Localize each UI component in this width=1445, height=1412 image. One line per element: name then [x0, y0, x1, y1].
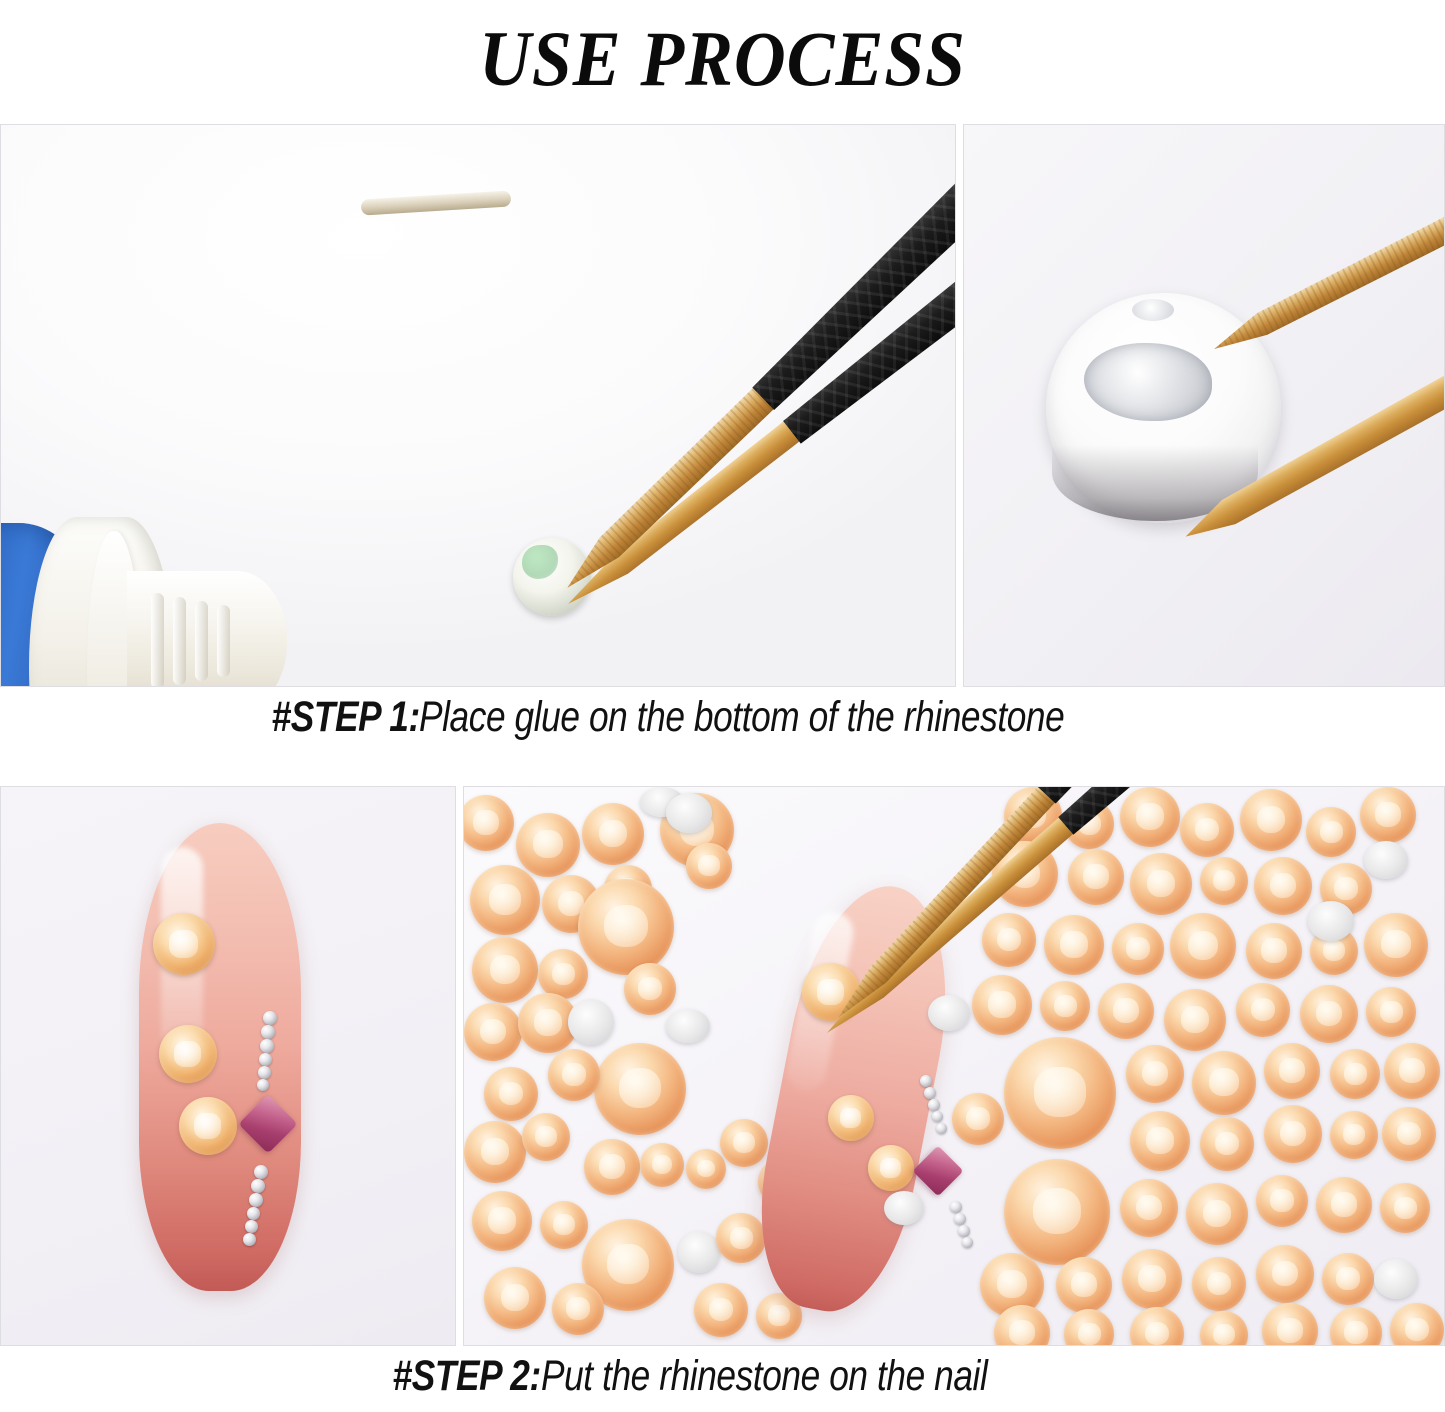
- scattered-rhinestone: [686, 1149, 726, 1189]
- scattered-rhinestone: [1236, 983, 1290, 1037]
- scattered-rhinestone: [1112, 923, 1164, 975]
- bead: [260, 1039, 274, 1053]
- rhinestone-flat-back: [666, 1009, 710, 1043]
- title-bar: USE PROCESS: [0, 0, 1445, 118]
- scattered-rhinestone: [1254, 857, 1312, 915]
- bead: [950, 1201, 962, 1213]
- scattered-rhinestone: [484, 1267, 546, 1329]
- scattered-rhinestone: [1120, 787, 1180, 847]
- scattered-rhinestone: [1300, 985, 1358, 1043]
- step1-photo-glue-on-stone-back: [963, 124, 1445, 687]
- bead: [259, 1053, 272, 1066]
- scattered-rhinestone: [1120, 1179, 1178, 1237]
- scattered-rhinestone: [1040, 981, 1090, 1031]
- round-gem: [179, 1097, 237, 1155]
- step1-photo-glue-application: [0, 124, 956, 687]
- scattered-rhinestone: [640, 1143, 684, 1187]
- scattered-rhinestone: [522, 1113, 570, 1161]
- step-1-image-row: [0, 124, 1445, 687]
- step-2-image-row: [0, 786, 1445, 1346]
- scattered-rhinestone: [1382, 1107, 1436, 1161]
- scattered-rhinestone: [1056, 1257, 1112, 1313]
- scattered-rhinestone: [464, 1121, 526, 1183]
- nozzle-ridge: [195, 601, 208, 681]
- scattered-rhinestone: [1264, 1043, 1320, 1099]
- scattered-rhinestone: [720, 1119, 768, 1167]
- bead: [958, 1225, 970, 1237]
- scattered-rhinestone: [1246, 923, 1302, 979]
- scattered-rhinestone: [1130, 853, 1192, 915]
- rhinestone-flat-back: [928, 995, 970, 1031]
- glue-bottle-nozzle: [127, 571, 287, 687]
- bead: [247, 1207, 260, 1220]
- rhinestone-flat-back: [666, 793, 712, 833]
- bead: [954, 1213, 966, 1225]
- step-1-label: #STEP 1:: [271, 693, 419, 742]
- scattered-rhinestone: [516, 813, 580, 877]
- scattered-rhinestone: [1200, 857, 1248, 905]
- bead: [251, 1179, 265, 1193]
- scattered-rhinestone: [578, 879, 674, 975]
- glue-bottle: [0, 523, 241, 687]
- scattered-rhinestone: [1122, 1249, 1182, 1309]
- scattered-rhinestone: [552, 1283, 604, 1335]
- bead: [263, 1011, 277, 1025]
- scattered-rhinestone: [1200, 1117, 1254, 1171]
- bead: [258, 1066, 271, 1079]
- scattered-rhinestone: [1044, 915, 1104, 975]
- rhinestone-flat-back: [1364, 841, 1408, 879]
- rhinestone-flat-back: [678, 1231, 720, 1273]
- bead: [257, 1079, 269, 1091]
- scattered-rhinestone: [1170, 913, 1236, 979]
- scattered-rhinestone: [1384, 1043, 1440, 1099]
- bead: [243, 1233, 256, 1246]
- step-1-caption: #STEP 1: Place glue on the bottom of the…: [0, 693, 1445, 742]
- rhinestone-flat-back: [568, 999, 614, 1045]
- bead: [936, 1123, 947, 1134]
- scattered-rhinestone: [1126, 1045, 1184, 1103]
- scattered-rhinestone: [464, 1003, 522, 1061]
- scattered-rhinestone: [1256, 1175, 1308, 1227]
- bead: [920, 1075, 932, 1087]
- bead: [245, 1220, 258, 1233]
- scattered-rhinestone: [540, 1201, 588, 1249]
- rhinestone-flat-back: [1374, 1259, 1418, 1299]
- scattered-rhinestone: [484, 1067, 538, 1121]
- round-gem: [868, 1145, 914, 1191]
- rhinestone-flat-back: [884, 1191, 924, 1225]
- scattered-rhinestone: [952, 1093, 1004, 1145]
- scattered-rhinestone: [470, 865, 540, 935]
- scattered-rhinestone: [1360, 787, 1416, 843]
- scattered-rhinestone: [584, 1139, 640, 1195]
- scattered-rhinestone: [716, 1213, 766, 1263]
- bead: [962, 1237, 973, 1248]
- rhinestone-flat-back: [1308, 901, 1354, 941]
- scattered-rhinestone: [1186, 1183, 1248, 1245]
- bead: [924, 1087, 936, 1099]
- scattered-rhinestone: [1068, 849, 1124, 905]
- scattered-rhinestone: [972, 975, 1032, 1035]
- nozzle-ridge: [151, 593, 164, 687]
- step2-photo-applying-rhinestone: [463, 786, 1445, 1346]
- glue-bubble: [1132, 299, 1174, 321]
- scattered-rhinestone: [538, 949, 588, 999]
- scattered-rhinestone: [1240, 789, 1302, 851]
- scattered-rhinestone: [594, 1043, 686, 1135]
- scattered-rhinestone: [1322, 1253, 1374, 1305]
- scattered-rhinestone: [582, 803, 644, 865]
- page-title: USE PROCESS: [479, 20, 966, 98]
- scattered-rhinestone: [1192, 1257, 1246, 1311]
- nozzle-ridge: [173, 597, 186, 685]
- scattered-rhinestone: [686, 843, 732, 889]
- scattered-rhinestone: [1380, 1183, 1430, 1233]
- scattered-rhinestone: [1330, 1111, 1378, 1159]
- bead: [249, 1193, 263, 1207]
- round-gem: [828, 1095, 874, 1141]
- scattered-rhinestone: [1364, 913, 1428, 977]
- scattered-rhinestone: [982, 913, 1036, 967]
- scattered-rhinestone: [1098, 983, 1154, 1039]
- scattered-rhinestone: [1180, 803, 1234, 857]
- scattered-rhinestone: [1192, 1051, 1256, 1115]
- round-gem: [153, 913, 215, 975]
- scattered-rhinestone: [1306, 807, 1356, 857]
- scattered-rhinestone: [624, 963, 676, 1015]
- scattered-rhinestone: [1330, 1049, 1380, 1099]
- scattered-rhinestone: [1256, 1245, 1314, 1303]
- scattered-rhinestone: [1004, 1037, 1116, 1149]
- scattered-rhinestone: [1130, 1111, 1190, 1171]
- scattered-rhinestone: [1004, 1159, 1110, 1265]
- bead: [928, 1099, 940, 1111]
- scattered-rhinestone: [472, 937, 538, 1003]
- scattered-rhinestone: [1264, 1105, 1322, 1163]
- scattered-rhinestone: [694, 1283, 748, 1337]
- bead: [932, 1111, 943, 1122]
- scattered-rhinestone: [472, 1191, 532, 1251]
- step-2-caption: #STEP 2: Put the rhinestone on the nail: [0, 1352, 1445, 1401]
- nozzle-ridge: [217, 605, 230, 677]
- step-2-label: #STEP 2:: [392, 1352, 540, 1401]
- bead: [254, 1165, 268, 1179]
- scattered-rhinestone: [548, 1049, 600, 1101]
- step-1-description: Place glue on the bottom of the rhinesto…: [419, 693, 1064, 742]
- bead: [261, 1025, 275, 1039]
- step2-photo-finished-nail: [0, 786, 456, 1346]
- scattered-rhinestone: [1316, 1177, 1372, 1233]
- step-2-description: Put the rhinestone on the nail: [541, 1352, 987, 1401]
- scattered-rhinestone: [1366, 987, 1416, 1037]
- round-gem: [159, 1025, 217, 1083]
- scattered-rhinestone: [1164, 989, 1226, 1051]
